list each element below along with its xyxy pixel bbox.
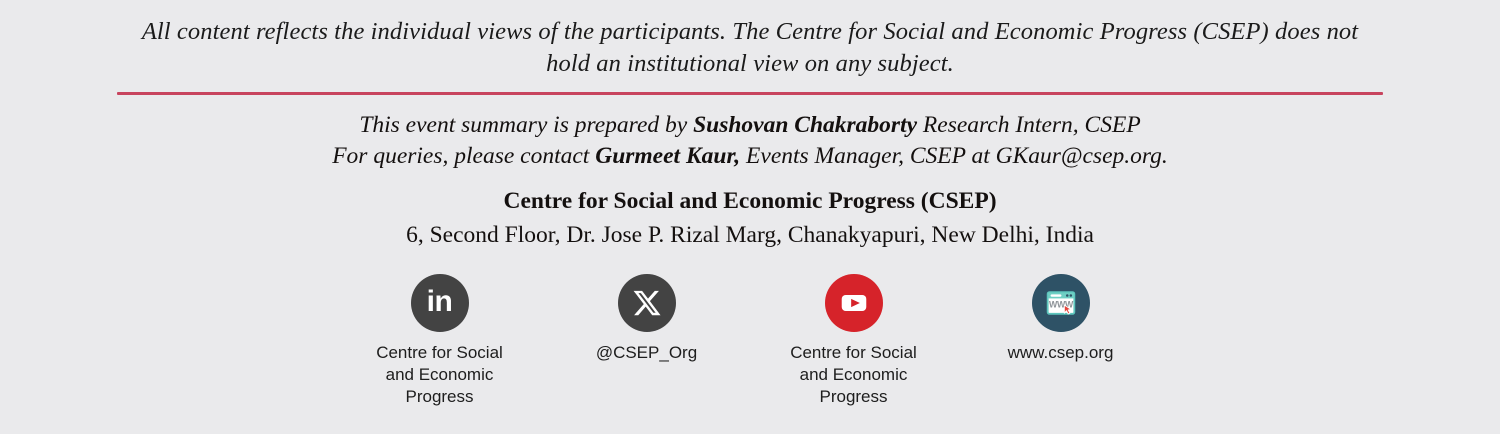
contact-prefix: For queries, please contact [332, 143, 595, 169]
prepared-by-line: This event summary is prepared by Sushov… [359, 112, 1140, 138]
social-item-linkedin[interactable]: in Centre for Social and Economic Progre… [336, 274, 543, 407]
linkedin-icon[interactable]: in [411, 274, 469, 332]
social-links-row: in Centre for Social and Economic Progre… [0, 250, 1500, 407]
disclaimer-line-2: hold an institutional view on any subjec… [546, 50, 954, 77]
social-caption-x: @CSEP_Org [596, 342, 697, 364]
social-caption-linkedin: Centre for Social and Economic Progress [376, 342, 504, 407]
social-item-x[interactable]: @CSEP_Org [543, 274, 750, 364]
credits-text: This event summary is prepared by Sushov… [0, 96, 1500, 173]
social-caption-website: www.csep.org [1008, 342, 1114, 364]
disclaimer-text: All content reflects the individual view… [0, 0, 1500, 81]
x-twitter-icon[interactable] [618, 274, 676, 332]
horizontal-rule [117, 92, 1383, 95]
svg-text:WWW: WWW [1048, 300, 1073, 310]
social-item-youtube[interactable]: Centre for Social and Economic Progress [750, 274, 957, 407]
contact-name: Gurmeet Kaur, [595, 143, 740, 169]
prepared-by-suffix: Research Intern, CSEP [917, 112, 1141, 138]
organization-address: 6, Second Floor, Dr. Jose P. Rizal Marg,… [0, 217, 1500, 251]
author-name: Sushovan Chakraborty [693, 112, 917, 138]
social-item-website[interactable]: WWW www.csep.org [957, 274, 1164, 364]
contact-suffix: Events Manager, CSEP at GKaur@csep.org. [740, 143, 1168, 169]
youtube-icon[interactable] [825, 274, 883, 332]
linkedin-glyph: in [427, 287, 453, 319]
footer-panel: All content reflects the individual view… [0, 0, 1500, 434]
prepared-by-prefix: This event summary is prepared by [359, 112, 693, 138]
organization-name: Centre for Social and Economic Progress … [0, 172, 1500, 217]
contact-line: For queries, please contact Gurmeet Kaur… [332, 143, 1168, 169]
website-icon[interactable]: WWW [1032, 274, 1090, 332]
divider-container [0, 92, 1500, 96]
disclaimer-line-1: All content reflects the individual view… [142, 18, 1358, 45]
social-caption-youtube: Centre for Social and Economic Progress [790, 342, 918, 407]
